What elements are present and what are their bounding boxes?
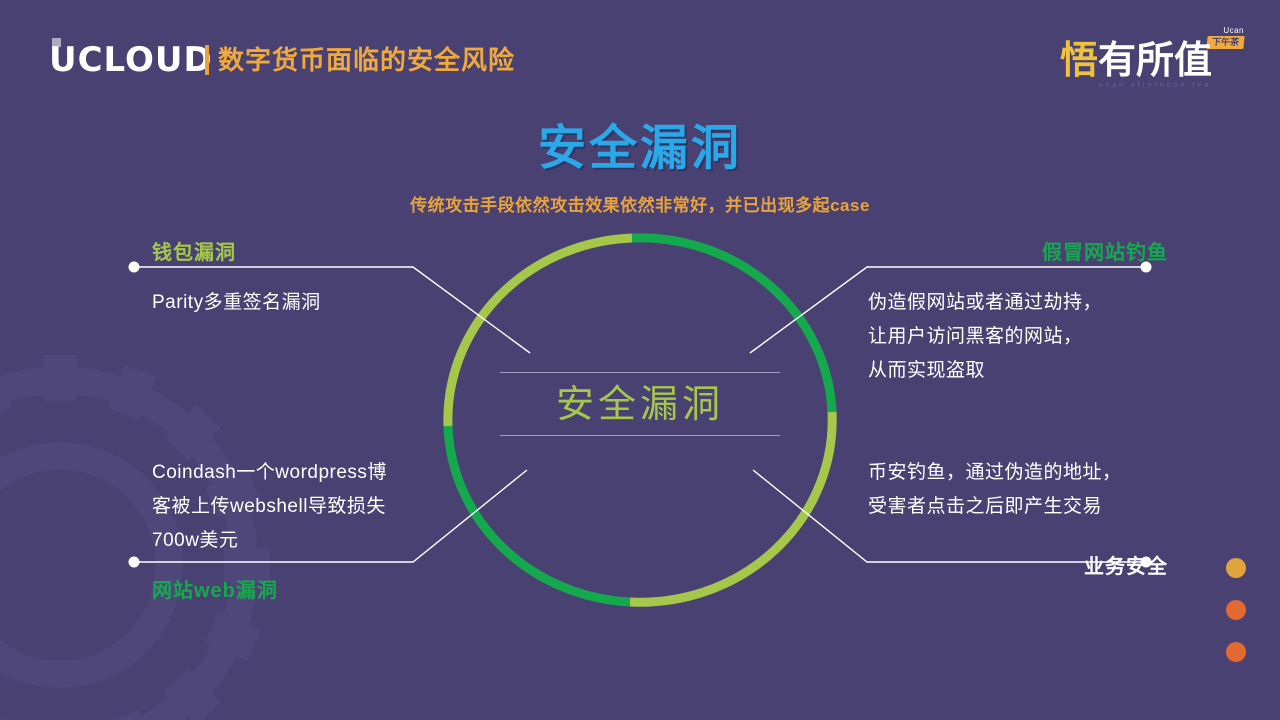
quadrant-top-right-heading: 假冒网站钓鱼: [868, 240, 1168, 266]
quadrant-top-left: 钱包漏洞 Parity多重签名漏洞: [152, 240, 452, 320]
quadrant-top-right-line3: 从而实现盗取: [868, 354, 1168, 388]
quadrant-bottom-right-line2: 受害者点击之后即产生交易: [868, 490, 1168, 524]
quadrant-bottom-right-line1: 币安钓鱼，通过伪造的地址，: [868, 456, 1168, 490]
quadrant-bottom-right-body: 币安钓鱼，通过伪造的地址， 受害者点击之后即产生交易: [868, 456, 1168, 524]
dot-orange-1: [1226, 600, 1246, 620]
quadrant-top-left-body: Parity多重签名漏洞: [152, 286, 452, 320]
quadrant-bottom-right: 币安钓鱼，通过伪造的地址， 受害者点击之后即产生交易 业务安全: [868, 456, 1168, 580]
quadrant-top-right-line2: 让用户访问黑客的网站，: [868, 320, 1168, 354]
quadrant-top-right-line1: 伪造假网站或者通过劫持，: [868, 286, 1168, 320]
quadrant-top-right: 假冒网站钓鱼 伪造假网站或者通过劫持， 让用户访问黑客的网站， 从而实现盗取: [868, 240, 1168, 388]
connector-node-bottom-left: [129, 557, 140, 568]
quadrant-bottom-left-body: Coindash一个wordpress博 客被上传webshell导致损失 70…: [152, 456, 452, 558]
decor-dots: [1226, 558, 1252, 684]
dot-gold: [1226, 558, 1246, 578]
quadrant-bottom-left: Coindash一个wordpress博 客被上传webshell导致损失 70…: [152, 456, 452, 604]
connector-node-top-left: [129, 262, 140, 273]
quadrant-bottom-left-heading: 网站web漏洞: [152, 578, 452, 604]
quadrant-top-left-heading: 钱包漏洞: [152, 240, 452, 266]
dot-orange-2: [1226, 642, 1246, 662]
quadrant-top-right-body: 伪造假网站或者通过劫持， 让用户访问黑客的网站， 从而实现盗取: [868, 286, 1168, 388]
quadrant-bottom-left-line1: Coindash一个wordpress博: [152, 456, 452, 490]
quadrant-bottom-right-heading: 业务安全: [868, 554, 1168, 580]
quadrant-bottom-left-line3: 700w美元: [152, 524, 452, 558]
quadrant-bottom-left-line2: 客被上传webshell导致损失: [152, 490, 452, 524]
slide-root: UCLOUD 数字货币面临的安全风险 Ucan 下午茶 悟有所值 ucan af…: [0, 0, 1280, 720]
